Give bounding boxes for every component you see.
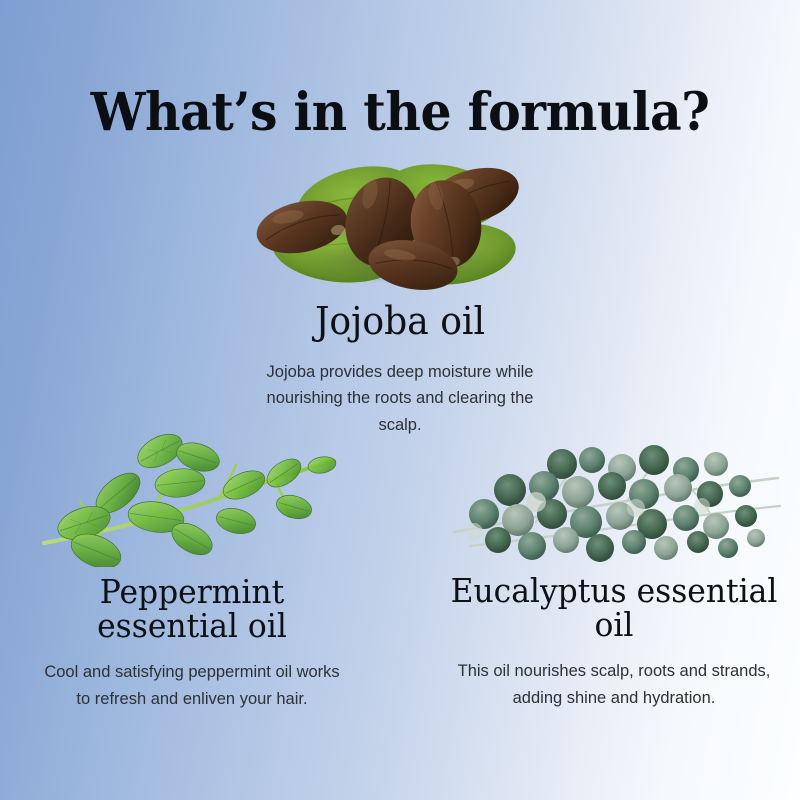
eucalyptus-branch-image	[440, 440, 788, 568]
ingredient-card-eucalyptus: Eucalyptus essential oil This oil nouris…	[440, 440, 788, 712]
ingredient-card-jojoba: Jojoba oil Jojoba provides deep moisture…	[230, 150, 570, 439]
jojoba-seeds-image	[230, 150, 570, 296]
ingredient-name-peppermint: Peppermint essential oil	[31, 575, 354, 642]
ingredient-card-peppermint: Peppermint essential oil Cool and satisf…	[22, 425, 362, 713]
peppermint-sprig-image	[22, 425, 362, 567]
ingredient-description-peppermint: Cool and satisfying peppermint oil works…	[22, 659, 362, 712]
ingredient-name-jojoba: Jojoba oil	[239, 302, 562, 341]
ingredients-poster: What’s in the formula?	[0, 0, 800, 800]
ingredient-name-eucalyptus: Eucalyptus essential oil	[449, 574, 780, 641]
page-title: What’s in the formula?	[24, 87, 776, 139]
ingredient-description-eucalyptus: This oil nourishes scalp, roots and stra…	[440, 658, 788, 711]
